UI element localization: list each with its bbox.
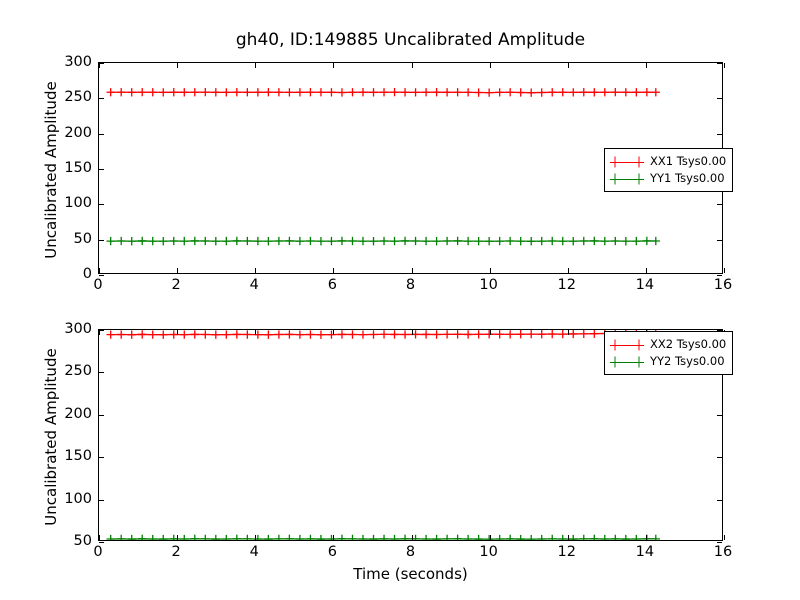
data-point-marker [569,330,577,338]
data-point-marker [117,237,125,245]
data-point-marker [559,237,567,245]
data-point-marker [632,535,640,540]
data-point-marker [264,331,272,339]
data-point-marker [611,535,619,540]
data-point-marker [348,535,356,540]
data-point-marker [495,88,503,96]
data-point-marker [401,330,409,338]
data-point-marker [559,535,567,540]
data-point-marker [359,237,367,245]
data-point-marker [317,237,325,245]
y-axis-label-top: Uncalibrated Amplitude [42,64,60,276]
data-point-marker [369,237,377,245]
data-point-marker [652,88,660,96]
x-axis-bottom: 0246810121416 [98,544,723,564]
y-tick [99,372,104,373]
data-point-marker [149,535,157,540]
y-tick [717,415,722,416]
data-point-marker [495,535,503,540]
legend-line-marker-icon [610,339,644,351]
data-point-marker [285,535,293,540]
data-point-marker [359,535,367,540]
data-point-marker [348,237,356,245]
data-point-marker [527,237,535,245]
data-point-marker [338,330,346,338]
data-point-marker [106,330,114,338]
data-point-marker [285,330,293,338]
data-point-marker [180,330,188,338]
data-point-marker [243,237,251,245]
y-tick [717,63,722,64]
data-point-marker [632,88,640,96]
data-point-marker [128,535,136,540]
series-yy2 [106,535,659,540]
data-point-marker [275,237,283,245]
y-tick [99,204,104,205]
data-point-marker [359,88,367,96]
x-tick [412,330,413,335]
data-point-marker [611,237,619,245]
data-point-marker [453,237,461,245]
x-tick-label: 12 [558,544,576,560]
y-tick-label: 300 [64,321,92,337]
x-tick [177,268,178,273]
x-tick-label: 12 [558,277,576,293]
legend-label: YY1 Tsys0.00 [650,173,725,185]
x-tick-label: 16 [714,277,732,293]
data-point-marker [432,88,440,96]
x-tick [568,535,569,540]
data-point-marker [506,535,514,540]
x-tick [255,330,256,335]
x-tick-label: 10 [479,277,497,293]
data-point-marker [138,88,146,96]
x-tick [646,63,647,68]
data-point-marker [411,237,419,245]
data-point-marker [380,535,388,540]
y-tick-label: 250 [64,89,92,105]
x-tick [724,535,725,540]
data-point-marker [191,535,199,540]
data-point-marker [296,535,304,540]
data-point-marker [538,330,546,338]
x-tick [568,330,569,335]
data-point-marker [443,535,451,540]
data-point-marker [106,237,114,245]
x-tick-label: 2 [172,277,181,293]
x-tick [646,535,647,540]
data-point-marker [222,237,230,245]
data-point-marker [285,237,293,245]
x-tick-label: 4 [250,544,259,560]
data-point-marker [306,330,314,338]
data-point-marker [517,330,525,338]
data-point-marker [212,535,220,540]
data-point-marker [485,237,493,245]
data-point-marker [643,237,651,245]
data-point-marker [327,535,335,540]
x-tick [412,535,413,540]
legend-item[interactable]: XX1 Tsys0.00 [610,153,726,170]
x-tick [490,268,491,273]
data-point-marker [506,237,514,245]
data-point-marker [285,88,293,96]
y-tick-label: 150 [64,448,92,464]
data-point-marker [527,535,535,540]
x-tick [724,268,725,273]
data-point-marker [580,330,588,338]
data-point-marker [149,330,157,338]
y-tick-label: 0 [83,266,92,282]
data-point-marker [296,330,304,338]
data-point-marker [432,535,440,540]
x-tick [568,63,569,68]
data-point-marker [191,237,199,245]
data-point-marker [327,88,335,96]
data-point-marker [264,88,272,96]
x-tick [490,330,491,335]
data-point-marker [548,237,556,245]
data-point-marker [212,88,220,96]
data-point-marker [590,237,598,245]
data-point-marker [474,330,482,338]
data-point-marker [369,88,377,96]
data-point-marker [348,330,356,338]
data-point-marker [159,331,167,339]
data-point-marker [495,237,503,245]
data-point-marker [652,535,660,540]
y-tick-label: 150 [64,160,92,176]
y-tick [717,457,722,458]
data-point-marker [243,88,251,96]
x-tick-label: 14 [636,277,654,293]
data-point-marker [432,330,440,338]
x-axis-top: 0246810121416 [98,277,723,297]
x-tick [99,268,100,273]
data-point-marker [622,535,630,540]
data-point-marker [548,330,556,338]
data-point-marker [243,535,251,540]
y-tick-label: 300 [64,54,92,70]
data-point-marker [464,330,472,338]
data-point-marker [506,330,514,338]
x-tick-label: 8 [406,544,415,560]
data-point-marker [338,237,346,245]
data-point-marker [348,88,356,96]
data-point-marker [422,88,430,96]
data-point-marker [569,88,577,96]
data-point-marker [390,237,398,245]
data-point-marker [170,88,178,96]
series-xx2 [106,330,659,339]
data-point-marker [264,535,272,540]
y-tick [717,542,722,543]
data-point-marker [317,88,325,96]
x-tick [490,535,491,540]
data-point-marker [611,88,619,96]
data-point-marker [517,237,525,245]
data-point-marker [485,88,493,96]
x-tick [568,268,569,273]
data-point-marker [106,88,114,96]
data-point-marker [601,535,609,540]
data-point-marker [474,535,482,540]
data-point-marker [317,331,325,339]
data-point-marker [590,88,598,96]
data-point-marker [453,330,461,338]
y-tick-label: 250 [64,363,92,379]
data-point-marker [411,88,419,96]
x-tick [490,63,491,68]
y-tick-label: 100 [64,195,92,211]
data-point-marker [443,88,451,96]
data-point-marker [138,237,146,245]
y-tick [99,63,104,64]
data-point-marker [590,330,598,338]
data-point-marker [401,237,409,245]
y-tick [99,330,104,331]
data-point-marker [128,237,136,245]
y-tick [717,204,722,205]
data-point-marker [580,237,588,245]
data-point-marker [264,237,272,245]
x-tick [255,63,256,68]
data-point-marker [317,535,325,540]
data-point-marker [128,331,136,339]
x-tick [412,63,413,68]
y-axis-label-bottom: Uncalibrated Amplitude [42,331,60,543]
data-point-marker [106,535,114,540]
data-point-marker [180,535,188,540]
data-point-marker [180,88,188,96]
y-tick [99,500,104,501]
data-point-marker [622,88,630,96]
y-tick [717,240,722,241]
x-tick [177,330,178,335]
data-point-marker [569,237,577,245]
data-point-marker [548,535,556,540]
data-point-marker [191,330,199,338]
x-tick-label: 0 [93,277,102,293]
y-tick [99,98,104,99]
x-tick [177,535,178,540]
data-point-marker [222,88,230,96]
data-point-marker [201,535,209,540]
data-point-marker [453,88,461,96]
x-tick [99,535,100,540]
y-tick-label: 50 [74,533,92,549]
x-tick [333,63,334,68]
data-point-marker [601,237,609,245]
data-point-marker [601,88,609,96]
data-point-marker [222,330,230,338]
data-point-marker [180,237,188,245]
data-point-marker [401,535,409,540]
data-point-marker [159,88,167,96]
x-tick [177,63,178,68]
legend-label: XX1 Tsys0.00 [650,156,726,168]
y-tick [717,98,722,99]
y-tick [99,275,104,276]
data-point-marker [632,237,640,245]
data-point-marker [622,237,630,245]
data-point-marker [422,535,430,540]
data-point-marker [296,88,304,96]
y-tick [99,542,104,543]
x-tick-label: 6 [328,544,337,560]
x-tick [333,330,334,335]
data-point-marker [464,237,472,245]
legend-label: YY2 Tsys0.00 [650,356,725,368]
data-point-marker [170,237,178,245]
legend-line-marker-icon [610,356,644,368]
data-point-marker [643,88,651,96]
page-title: gh40, ID:149885 Uncalibrated Amplitude [98,30,723,50]
data-point-marker [191,88,199,96]
legend-top: XX1 Tsys0.00 YY1 Tsys0.00 [604,148,733,192]
legend-label: XX2 Tsys0.00 [650,339,726,351]
figure-canvas: gh40, ID:149885 Uncalibrated Amplitude 0… [0,0,800,600]
data-point-marker [401,88,409,96]
data-point-marker [432,237,440,245]
data-point-marker [338,88,346,96]
y-tick [99,169,104,170]
data-point-marker [233,330,241,338]
data-point-marker [306,535,314,540]
data-point-marker [149,237,157,245]
data-point-marker [443,237,451,245]
data-point-marker [138,535,146,540]
data-point-marker [527,330,535,338]
data-point-marker [411,535,419,540]
x-tick [412,268,413,273]
x-tick-label: 6 [328,277,337,293]
data-point-marker [327,237,335,245]
data-point-marker [538,88,546,96]
data-point-marker [306,237,314,245]
data-point-marker [128,88,136,96]
data-point-marker [453,535,461,540]
data-point-marker [569,535,577,540]
x-tick-label: 8 [406,277,415,293]
y-tick [99,415,104,416]
data-point-marker [201,330,209,338]
data-point-marker [275,330,283,338]
data-point-marker [296,237,304,245]
data-point-marker [474,88,482,96]
data-point-marker [201,88,209,96]
x-tick [646,268,647,273]
y-tick-label: 200 [64,125,92,141]
y-tick [99,457,104,458]
x-tick-label: 14 [636,544,654,560]
x-tick [333,535,334,540]
legend-line-marker-icon [610,173,644,185]
y-tick [99,134,104,135]
data-point-marker [233,237,241,245]
y-tick [717,500,722,501]
data-point-marker [580,535,588,540]
data-point-marker [580,88,588,96]
data-point-marker [201,237,209,245]
x-tick [333,268,334,273]
legend-item[interactable]: YY2 Tsys0.00 [610,353,726,370]
data-point-marker [422,237,430,245]
series-xx1 [106,88,659,97]
data-point-marker [117,535,125,540]
data-point-marker [390,88,398,96]
data-point-marker [559,330,567,338]
data-point-marker [538,237,546,245]
data-point-marker [464,535,472,540]
data-point-marker [652,237,660,245]
data-point-marker [243,330,251,338]
data-point-marker [306,88,314,96]
data-point-marker [254,88,262,96]
x-tick [255,535,256,540]
data-point-marker [443,330,451,338]
data-point-marker [517,88,525,96]
x-tick [255,268,256,273]
data-point-marker [138,330,146,338]
data-point-marker [506,88,514,96]
y-tick [717,275,722,276]
y-tick-label: 200 [64,406,92,422]
data-point-marker [474,237,482,245]
x-tick-label: 10 [479,544,497,560]
legend-item[interactable]: YY1 Tsys0.00 [610,170,726,187]
data-point-marker [411,330,419,338]
data-point-marker [254,237,262,245]
data-point-marker [390,535,398,540]
data-point-marker [464,88,472,96]
data-point-marker [359,330,367,338]
data-point-marker [233,535,241,540]
data-point-marker [212,237,220,245]
data-point-marker [275,88,283,96]
data-point-marker [527,89,535,97]
data-point-marker [517,535,525,540]
data-point-marker [222,535,230,540]
legend-bottom: XX2 Tsys0.00 YY2 Tsys0.00 [604,331,733,375]
y-tick-label: 100 [64,491,92,507]
series-yy1 [106,237,659,246]
data-point-marker [380,237,388,245]
data-point-marker [159,237,167,245]
data-point-marker [117,88,125,96]
data-point-marker [590,535,598,540]
data-point-marker [149,88,157,96]
data-point-marker [538,535,546,540]
x-tick-label: 16 [714,544,732,560]
data-point-marker [559,88,567,96]
data-point-marker [327,330,335,338]
y-tick [99,240,104,241]
y-tick [717,134,722,135]
data-point-marker [548,88,556,96]
data-point-marker [369,535,377,540]
x-tick-label: 4 [250,277,259,293]
data-point-marker [380,330,388,338]
legend-item[interactable]: XX2 Tsys0.00 [610,336,726,353]
data-point-marker [495,330,503,338]
data-point-marker [369,330,377,338]
data-point-marker [275,535,283,540]
legend-line-marker-icon [610,156,644,168]
data-point-marker [117,330,125,338]
data-point-marker [212,331,220,339]
data-point-marker [390,330,398,338]
